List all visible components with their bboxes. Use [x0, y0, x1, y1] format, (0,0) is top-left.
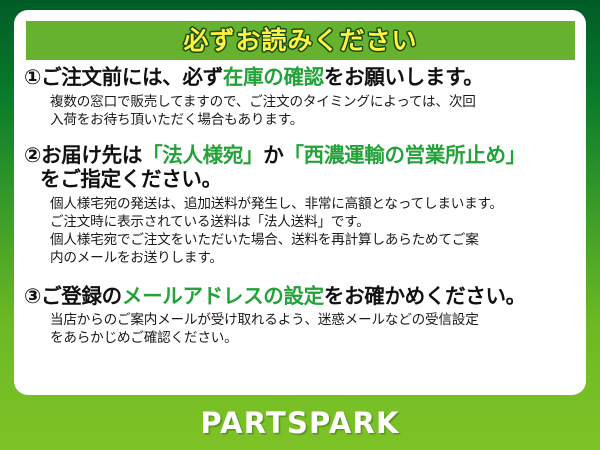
- notice-item-3-highlight: メールアドレスの設定: [122, 284, 324, 308]
- notice-item-3-text-a: ご登録の: [41, 284, 122, 308]
- notice-body: ①ご注文前には、必ず在庫の確認をお願いします。 複数の窓口で販売してますので、ご…: [14, 66, 586, 348]
- footer-bar: PARTSPARK: [0, 395, 600, 450]
- notice-item-2-heading: ②お届け先は「法人様宛」か「西濃運輸の営業所止め」 をご指定ください。: [24, 144, 576, 192]
- notice-item-2-subline-2: ご注文時に表示されている送料は「法人送料」です。: [50, 213, 576, 231]
- header-banner: 必ずお読みください: [26, 21, 575, 60]
- notice-item-2-text-b: か: [263, 143, 283, 167]
- notice-item-1-subline-2: 入荷をお待ち頂いただく場合もあります。: [50, 111, 576, 129]
- notice-item-3-subline-2: をあらかじめご確認ください。: [50, 329, 576, 347]
- notice-item-2-highlight-2: 「西濃運輸の営業所止め」: [283, 143, 525, 167]
- notice-item-2-marker: ②: [24, 143, 41, 167]
- notice-item-3-text-b: をお確かめください。: [324, 284, 526, 308]
- white-content-card: 必ずお読みください ①ご注文前には、必ず在庫の確認をお願いします。 複数の窓口で…: [14, 10, 586, 395]
- notice-item-3-subline-1: 当店からのご案内メールが受け取れるよう、迷惑メールなどの受信設定: [50, 311, 576, 329]
- brand-logo: PARTSPARK: [200, 406, 399, 440]
- notice-item-2-highlight-1: 「法人様宛」: [142, 143, 263, 167]
- notice-item-1: ①ご注文前には、必ず在庫の確認をお願いします。 複数の窓口で販売してますので、ご…: [14, 66, 586, 129]
- notice-item-2: ②お届け先は「法人様宛」か「西濃運輸の営業所止め」 をご指定ください。 個人様宅…: [14, 144, 586, 267]
- notice-item-2-subline-3: 個人様宅宛でご注文をいただいた場合、送料を再計算しあらためてご案: [50, 231, 576, 249]
- notice-item-2-subline-1: 個人様宅宛の発送は、追加送料が発生し、非常に高額となってしまいます。: [50, 195, 576, 213]
- notice-item-2-subline-4: 内のメールをお送りします。: [50, 249, 576, 267]
- notice-item-2-subtext: 個人様宅宛の発送は、追加送料が発生し、非常に高額となってしまいます。 ご注文時に…: [24, 192, 576, 268]
- notice-item-3-heading: ③ご登録のメールアドレスの設定をお確かめください。: [24, 285, 576, 309]
- notice-item-1-subline-1: 複数の窓口で販売してますので、ご注文のタイミングによっては、次回: [50, 93, 576, 111]
- notice-item-1-text-b: をお願いします。: [324, 65, 484, 89]
- notice-item-2-text-a: お届け先は: [41, 143, 142, 167]
- notice-item-3-subtext: 当店からのご案内メールが受け取れるよう、迷惑メールなどの受信設定 をあらかじめご…: [24, 308, 576, 347]
- notice-item-1-heading: ①ご注文前には、必ず在庫の確認をお願いします。: [24, 66, 576, 90]
- notice-item-1-marker: ①: [24, 65, 41, 89]
- notice-item-1-subtext: 複数の窓口で販売してますので、ご注文のタイミングによっては、次回 入荷をお待ち頂…: [24, 90, 576, 129]
- notice-card: 必ずお読みください ①ご注文前には、必ず在庫の確認をお願いします。 複数の窓口で…: [0, 0, 600, 450]
- notice-item-3: ③ご登録のメールアドレスの設定をお確かめください。 当店からのご案内メールが受け…: [14, 285, 586, 348]
- notice-item-3-marker: ③: [24, 284, 41, 308]
- notice-item-1-text-a: ご注文前には、必ず: [41, 65, 223, 89]
- notice-item-1-highlight: 在庫の確認: [223, 65, 324, 89]
- notice-item-2-heading-line2: をご指定ください。: [24, 168, 576, 192]
- page-title: 必ずお読みください: [183, 28, 417, 53]
